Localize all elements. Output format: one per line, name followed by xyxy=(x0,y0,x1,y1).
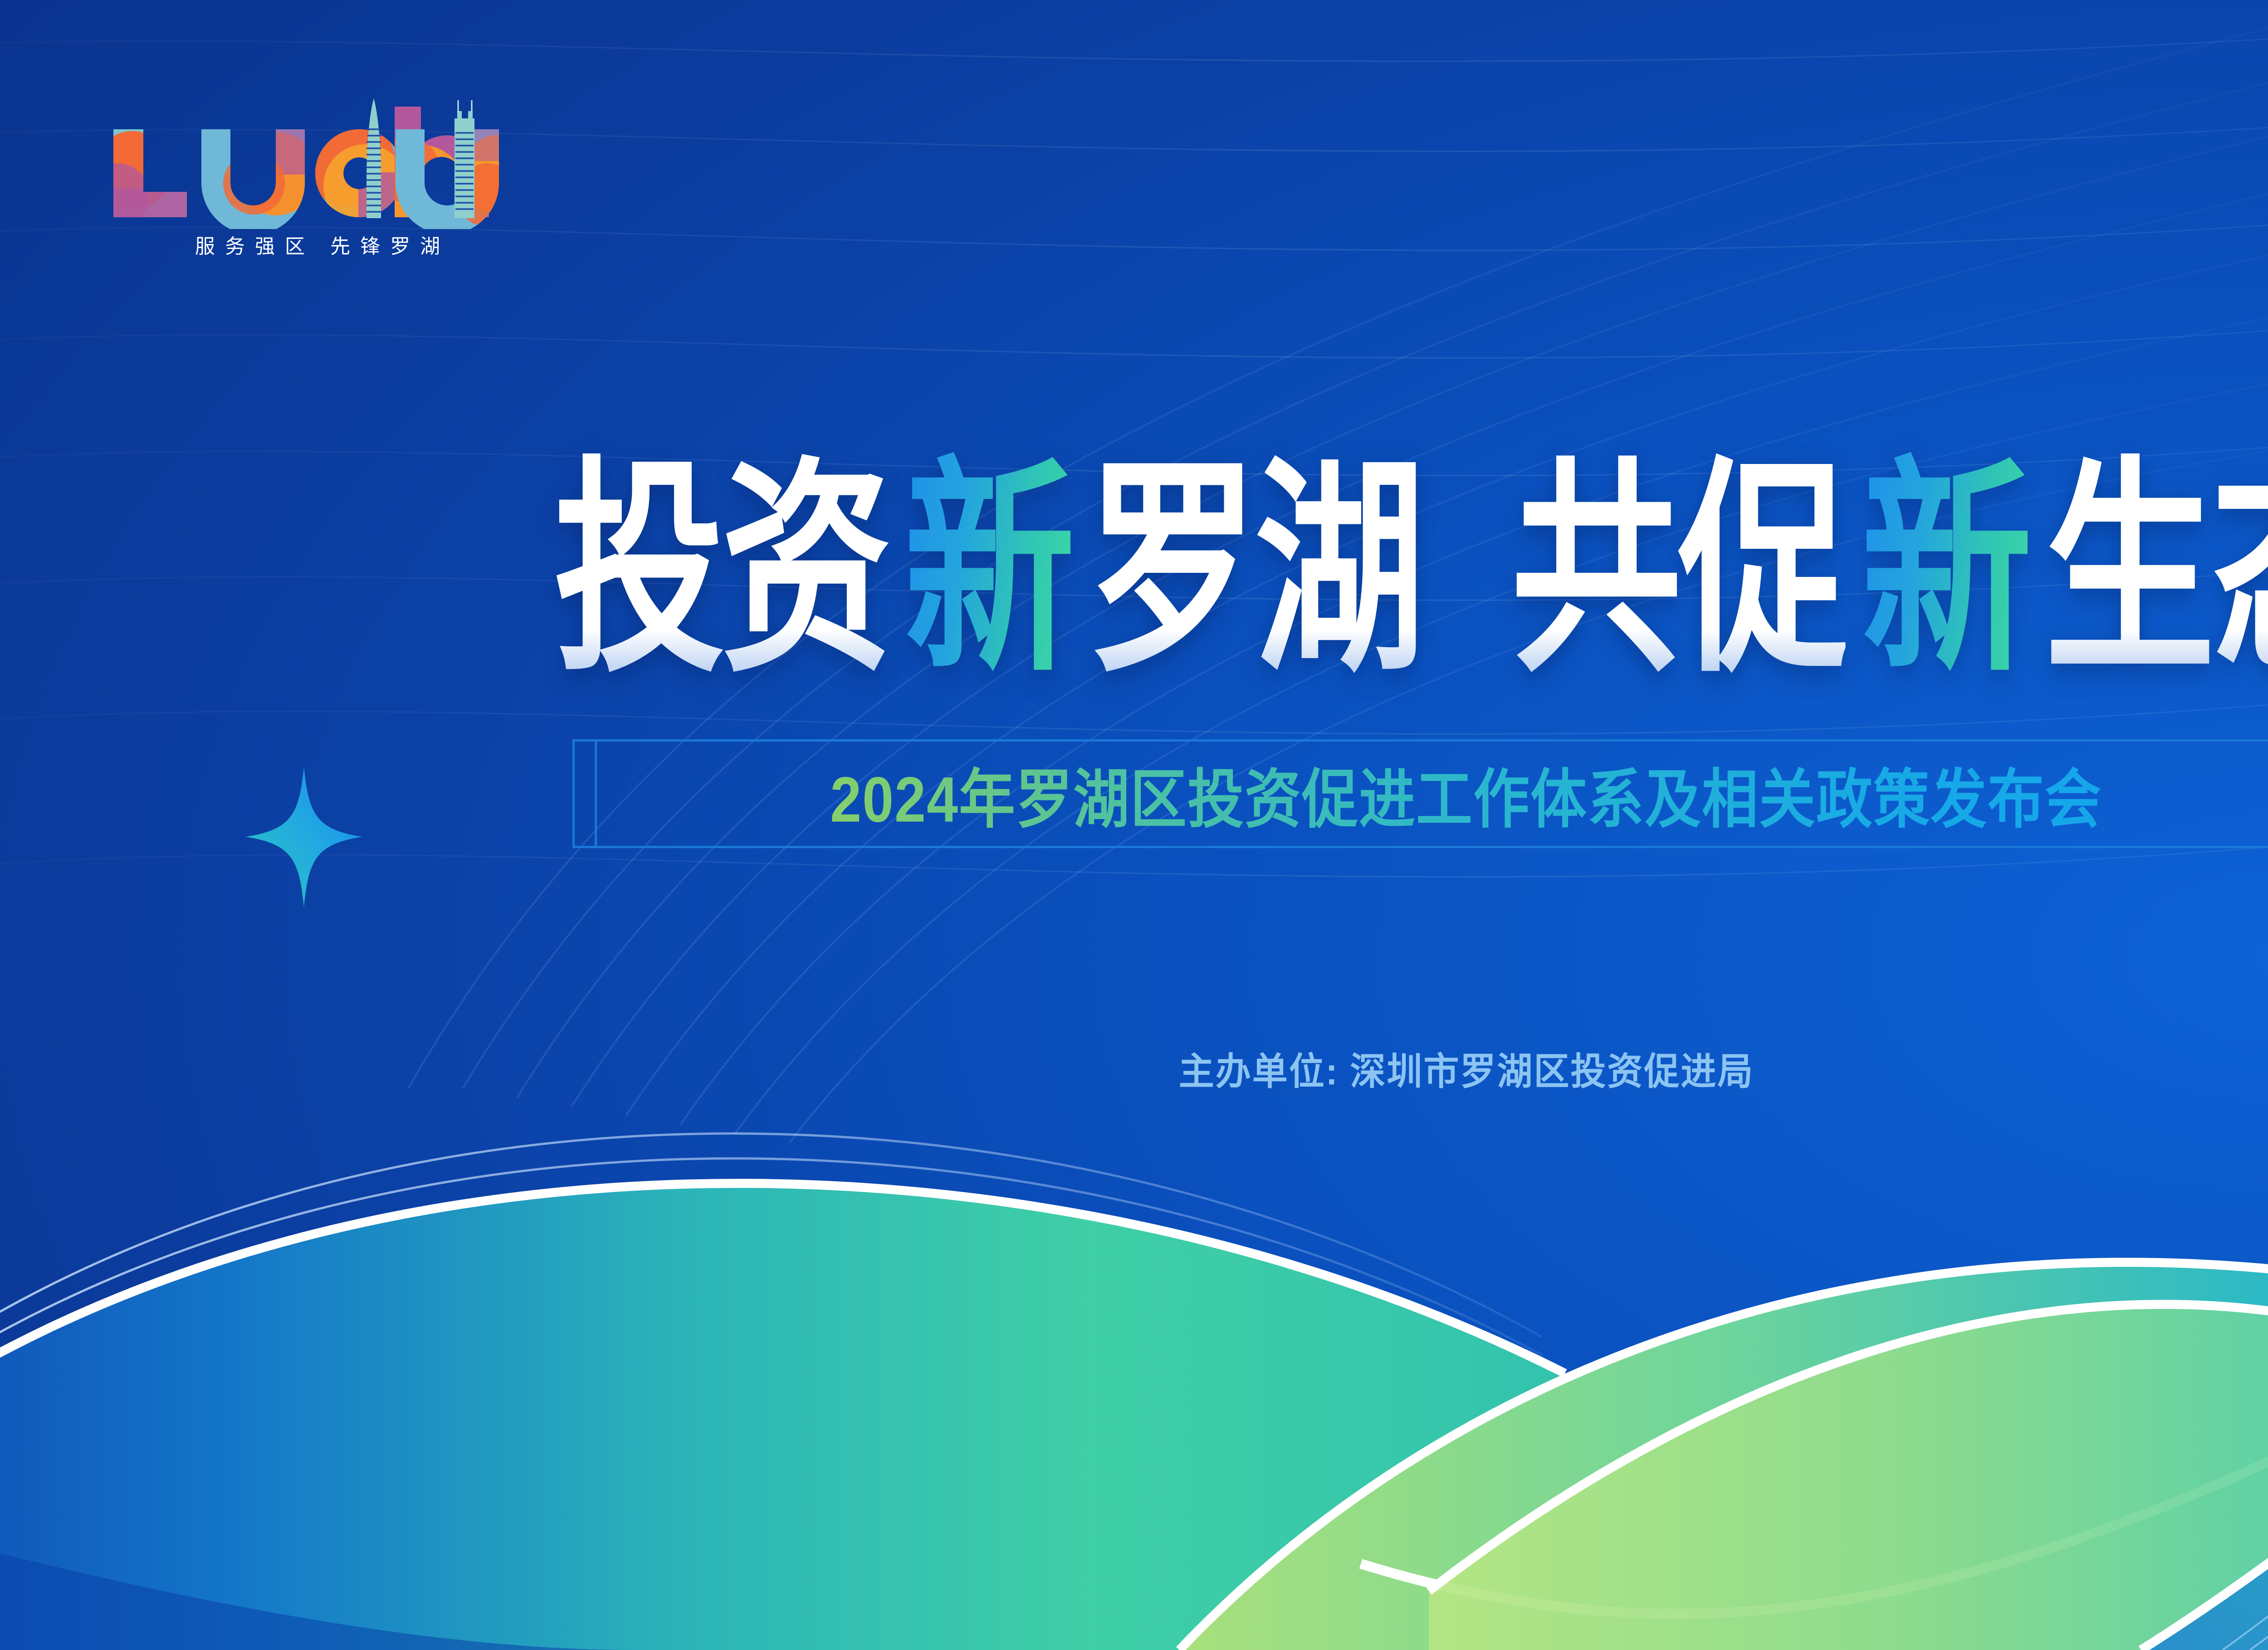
poster-headline: 投资新罗湖共促新生态 xyxy=(0,447,2268,643)
ping-an-tower-icon xyxy=(367,98,381,218)
wave-ribbon-blue-edge xyxy=(1361,1083,2268,1614)
subtitle-frame: 2024年罗湖区投资促进工作体系及相关政策发布会 xyxy=(572,739,2268,848)
wave-ribbon-rising-edge xyxy=(2141,1083,2268,1650)
wave-ribbon-green xyxy=(1179,1262,2268,1650)
subtitle-text: 2024年罗湖区投资促进工作体系及相关政策发布会 xyxy=(575,747,2268,840)
kk100-tower-icon xyxy=(455,100,474,218)
headline-segment-5-accent: 新 xyxy=(1862,447,2028,693)
organizer-line: 主办单位: 深圳市罗湖区投资促进局 xyxy=(0,1042,2268,1096)
wave-corner-wedge xyxy=(0,1518,635,1650)
headline-segment-3: 罗湖 xyxy=(1088,447,1422,693)
headline-segment-2-accent: 新 xyxy=(904,447,1071,693)
luohu-logo[interactable]: 服务强区 先锋罗湖 xyxy=(104,98,531,270)
poster-canvas: 服务强区 先锋罗湖 xyxy=(0,0,2268,1650)
wave-ribbon-green-lobe xyxy=(1429,1304,2268,1650)
logo-tagline: 服务强区 先锋罗湖 xyxy=(104,230,531,259)
headline-segment-1: 投资 xyxy=(554,447,889,693)
bottom-wave-artwork xyxy=(0,1083,2268,1650)
wave-ribbon-green-lobe-edge xyxy=(1429,1304,2268,1591)
wave-line-bundle-topright xyxy=(2223,1147,2268,1650)
headline-segment-6: 生态 xyxy=(2045,447,2268,693)
sparkle-star-left-icon xyxy=(245,766,363,907)
wave-line-bundle-right xyxy=(1406,1174,2268,1650)
logo-letter-u1 xyxy=(186,98,322,229)
headline-segment-4: 共促 xyxy=(1511,447,1846,693)
wave-line-bundle-left xyxy=(0,1133,1542,1636)
wave-ribbon-teal-edge xyxy=(0,1183,1565,1437)
wave-ribbon-teal xyxy=(0,1183,1565,1650)
wave-ribbon-green-edge xyxy=(1179,1262,2268,1650)
wave-ribbon-rising xyxy=(2141,1083,2268,1650)
luohu-wordmark-icon xyxy=(104,98,531,229)
